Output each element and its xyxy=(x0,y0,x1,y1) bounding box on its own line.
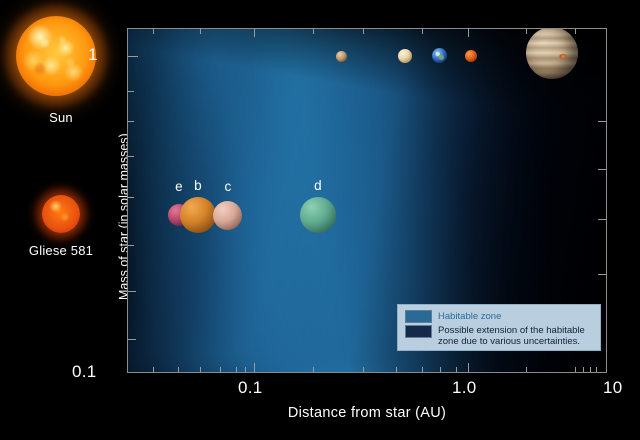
planet-mercury xyxy=(336,51,347,62)
y-minor-tick xyxy=(128,339,136,340)
planet-venus xyxy=(398,49,412,63)
x-minor-tick xyxy=(596,367,597,372)
y-tick-0-1: 0.1 xyxy=(72,362,97,382)
x-axis-title: Distance from star (AU) xyxy=(127,405,607,421)
x-minor-tick xyxy=(178,367,179,372)
y-minor-tick xyxy=(128,91,134,92)
planet-gliese-d xyxy=(300,197,336,233)
x-minor-tick xyxy=(590,367,591,372)
y-minor-tick xyxy=(128,156,134,157)
x-top-tick xyxy=(153,29,154,34)
infographic-root: Sun Gliese 581 Mass of star (in solar ma… xyxy=(0,0,640,440)
x-minor-tick xyxy=(440,367,441,372)
x-minor-tick xyxy=(200,367,201,372)
gliese-label: Gliese 581 xyxy=(0,243,122,258)
y-minor-tick xyxy=(128,291,136,292)
y-right-tick xyxy=(598,274,606,275)
x-minor-tick xyxy=(236,367,237,372)
y-right-tick xyxy=(598,121,606,122)
legend-label-extension: Possible extension of the habitable zone… xyxy=(438,325,593,347)
x-minor-tick xyxy=(456,367,457,372)
x-major-tick-0-1 xyxy=(254,363,255,372)
planet-jupiter xyxy=(526,28,578,79)
x-minor-tick xyxy=(422,367,423,372)
legend-item-extension: Possible extension of the habitable zone… xyxy=(405,325,593,347)
x-top-tick xyxy=(468,29,469,37)
x-top-tick xyxy=(254,29,255,37)
y-right-tick xyxy=(598,219,606,220)
x-tick-10: 10 xyxy=(603,378,623,398)
planet-mars xyxy=(465,50,477,62)
x-top-tick xyxy=(575,29,576,34)
legend: Habitable zone Possible extension of the… xyxy=(397,304,601,351)
x-minor-tick xyxy=(245,367,246,372)
planet-label-b: b xyxy=(186,178,210,193)
x-tick-0-1: 0.1 xyxy=(238,378,263,398)
red-dwarf-icon xyxy=(42,195,80,233)
x-top-tick xyxy=(200,29,201,34)
y-tick-1: 1 xyxy=(88,45,98,65)
plot-area: e b c d Habitable zone Possible extensio… xyxy=(127,28,607,373)
x-top-tick xyxy=(313,29,314,34)
y-major-tick-1 xyxy=(128,56,138,57)
legend-swatch-habitable-zone xyxy=(405,310,432,323)
x-minor-tick xyxy=(575,367,576,372)
y-right-tick xyxy=(598,169,606,170)
x-minor-tick xyxy=(363,367,364,372)
sun-surface-detail xyxy=(16,16,96,96)
legend-swatch-extension xyxy=(405,325,432,338)
x-tick-1-0: 1.0 xyxy=(452,378,477,398)
star-column: Sun Gliese 581 xyxy=(0,0,122,440)
x-minor-tick xyxy=(583,367,584,372)
y-minor-tick xyxy=(128,121,134,122)
x-minor-tick xyxy=(313,367,314,372)
sun-label: Sun xyxy=(0,110,122,125)
x-minor-tick xyxy=(526,367,527,372)
y-minor-tick xyxy=(128,197,134,198)
x-minor-tick xyxy=(220,367,221,372)
planet-gliese-c xyxy=(213,201,242,230)
x-top-tick xyxy=(526,29,527,34)
planet-label-c: c xyxy=(216,179,240,194)
legend-label-habitable-zone: Habitable zone xyxy=(438,310,501,323)
y-minor-tick xyxy=(128,245,134,246)
planet-earth xyxy=(432,48,447,63)
x-minor-tick xyxy=(396,367,397,372)
x-major-tick-1-0 xyxy=(468,363,469,372)
legend-item-habitable-zone: Habitable zone xyxy=(405,310,593,323)
planet-label-d: d xyxy=(306,178,330,193)
planet-gliese-b xyxy=(180,197,216,233)
x-top-tick xyxy=(422,29,423,34)
x-minor-tick xyxy=(153,367,154,372)
great-red-spot xyxy=(559,54,567,59)
x-top-tick xyxy=(363,29,364,34)
